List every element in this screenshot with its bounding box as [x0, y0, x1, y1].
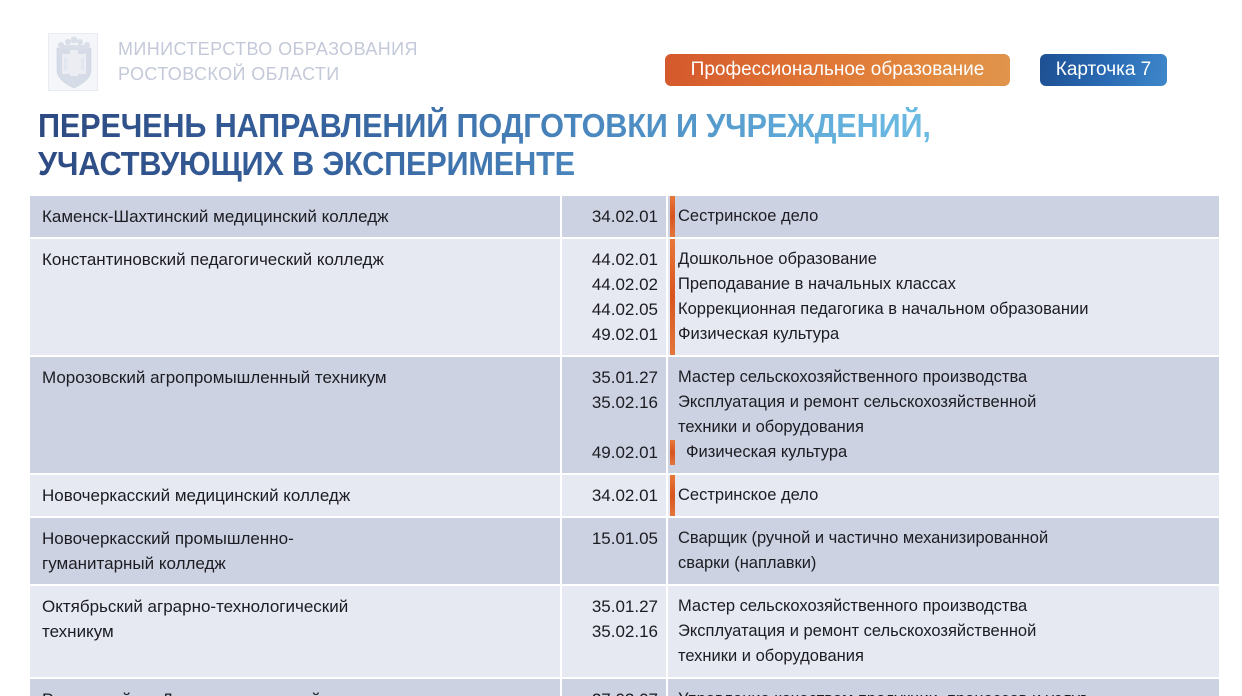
specialty-name: Эксплуатация и ремонт сельскохозяйственн…: [678, 390, 1213, 415]
specialty-code: 44.02.05: [562, 297, 658, 322]
specialty-name: Преподавание в начальных классах: [678, 272, 1213, 297]
specialty-code: 44.02.01: [562, 247, 658, 272]
ministry-name-line1: МИНИСТЕРСТВО ОБРАЗОВАНИЯ: [118, 39, 418, 59]
specialty-code: 44.02.02: [562, 272, 658, 297]
specialty-names: Дошкольное образованиеПреподавание в нач…: [668, 239, 1219, 355]
institutions-table: Каменск-Шахтинский медицинский колледж34…: [30, 196, 1219, 696]
specialty-names: Сестринское дело: [668, 475, 1219, 516]
specialty-name: Сварщик (ручной и частично механизирован…: [678, 526, 1213, 551]
specialty-names: Мастер сельскохозяйственного производств…: [668, 357, 1219, 473]
specialty-code: 35.02.16: [562, 619, 658, 644]
badge-program-category[interactable]: Профессиональное образование: [665, 54, 1010, 86]
institution-name: Константиновский педагогический колледж: [30, 239, 562, 355]
institution-name-line: техникум: [42, 619, 548, 644]
specialty-code: 49.02.01: [562, 322, 658, 347]
specialty-code: 49.02.01: [562, 440, 658, 465]
table-row[interactable]: Ростовский-на-Дону автодорожный колледж2…: [30, 679, 1219, 696]
specialty-names: Мастер сельскохозяйственного производств…: [668, 586, 1219, 677]
specialty-name: Дошкольное образование: [678, 247, 1213, 272]
specialty-name: техники и оборудования: [678, 644, 1213, 669]
specialty-names: Сестринское дело: [668, 196, 1219, 237]
orange-divider: [670, 440, 675, 465]
specialty-codes: 35.01.2735.02.16: [562, 586, 668, 677]
specialty-code: 35.02.16: [562, 390, 658, 415]
slide-header: МИНИСТЕРСТВО ОБРАЗОВАНИЯ РОСТОВСКОЙ ОБЛА…: [0, 0, 1242, 100]
specialty-name: Физическая культура: [678, 440, 1213, 465]
specialty-codes: 34.02.01: [562, 196, 668, 237]
orange-divider: [670, 239, 675, 355]
specialty-codes: 15.01.05: [562, 518, 668, 584]
specialty-names: Сварщик (ручной и частично механизирован…: [668, 518, 1219, 584]
specialty-name: Мастер сельскохозяйственного производств…: [678, 365, 1213, 390]
table-row[interactable]: Октябрьский аграрно-технологическийтехни…: [30, 586, 1219, 677]
orange-divider: [670, 475, 675, 516]
institution-name: Октябрьский аграрно-технологическийтехни…: [30, 586, 562, 677]
table-row[interactable]: Морозовский агропромышленный техникум35.…: [30, 357, 1219, 473]
orange-divider: [670, 196, 675, 237]
institution-name: Ростовский-на-Дону автодорожный колледж: [30, 679, 562, 696]
institution-name: Каменск-Шахтинский медицинский колледж: [30, 196, 562, 237]
badge-card-number[interactable]: Карточка 7: [1040, 54, 1167, 86]
specialty-code: 34.02.01: [562, 204, 658, 229]
table-row[interactable]: Константиновский педагогический колледж4…: [30, 239, 1219, 355]
institution-name-line: Каменск-Шахтинский медицинский колледж: [42, 204, 548, 229]
specialty-code: 15.01.05: [562, 526, 658, 551]
institution-name-line: Константиновский педагогический колледж: [42, 247, 548, 272]
institution-name: Новочеркасский промышленно-гуманитарный …: [30, 518, 562, 584]
specialty-name: Физическая культура: [678, 322, 1213, 347]
table-row[interactable]: Новочеркасский промышленно-гуманитарный …: [30, 518, 1219, 584]
specialty-name: Сестринское дело: [678, 204, 1213, 229]
rostov-coat-of-arms-icon: [48, 33, 98, 91]
ministry-name: МИНИСТЕРСТВО ОБРАЗОВАНИЯ РОСТОВСКОЙ ОБЛА…: [118, 37, 418, 87]
institution-name-line: Морозовский агропромышленный техникум: [42, 365, 548, 390]
specialty-name: Коррекционная педагогика в начальном обр…: [678, 297, 1213, 322]
specialty-name: Управление качеством продукции, процессо…: [678, 687, 1213, 696]
specialty-name: Сестринское дело: [678, 483, 1213, 508]
specialty-name: сварки (наплавки): [678, 551, 1213, 576]
institution-name-line: Новочеркасский промышленно-: [42, 526, 548, 551]
institution-name-line: Ростовский-на-Дону автодорожный колледж: [42, 687, 548, 696]
institution-name: Новочеркасский медицинский колледж: [30, 475, 562, 516]
specialty-code: 35.01.27: [562, 365, 658, 390]
specialty-code: 34.02.01: [562, 483, 658, 508]
specialty-code: [562, 415, 658, 440]
specialty-code: 35.01.27: [562, 594, 658, 619]
ministry-logo-block: МИНИСТЕРСТВО ОБРАЗОВАНИЯ РОСТОВСКОЙ ОБЛА…: [48, 33, 418, 91]
ministry-name-line2: РОСТОВСКОЙ ОБЛАСТИ: [118, 62, 418, 87]
institution-name-line: Октябрьский аграрно-технологический: [42, 594, 548, 619]
specialty-name: техники и оборудования: [678, 415, 1213, 440]
specialty-name: Мастер сельскохозяйственного производств…: [678, 594, 1213, 619]
table-row[interactable]: Новочеркасский медицинский колледж34.02.…: [30, 475, 1219, 516]
specialty-code: 27.02.07: [562, 687, 658, 696]
table-row[interactable]: Каменск-Шахтинский медицинский колледж34…: [30, 196, 1219, 237]
institution-name-line: гуманитарный колледж: [42, 551, 548, 576]
specialty-codes: 27.02.07: [562, 679, 668, 696]
page-title: ПЕРЕЧЕНЬ НАПРАВЛЕНИЙ ПОДГОТОВКИ И УЧРЕЖД…: [38, 107, 1061, 183]
institution-name: Морозовский агропромышленный техникум: [30, 357, 562, 473]
specialty-codes: 34.02.01: [562, 475, 668, 516]
specialty-name: Эксплуатация и ремонт сельскохозяйственн…: [678, 619, 1213, 644]
institution-name-line: Новочеркасский медицинский колледж: [42, 483, 548, 508]
specialty-codes: 35.01.2735.02.1649.02.01: [562, 357, 668, 473]
specialty-codes: 44.02.0144.02.0244.02.0549.02.01: [562, 239, 668, 355]
slide-root: МИНИСТЕРСТВО ОБРАЗОВАНИЯ РОСТОВСКОЙ ОБЛА…: [0, 0, 1242, 696]
specialty-names: Управление качеством продукции, процессо…: [668, 679, 1219, 696]
